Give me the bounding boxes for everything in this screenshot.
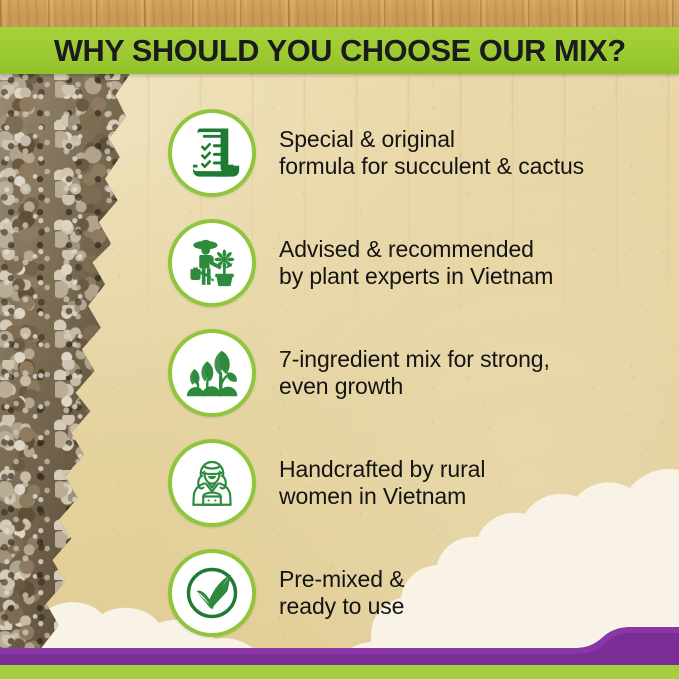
footer-lime-band [0,665,679,679]
infographic-panel: WHY SHOULD YOU CHOOSE OUR MIX? [0,0,679,679]
purple-footer-band [0,0,679,679]
